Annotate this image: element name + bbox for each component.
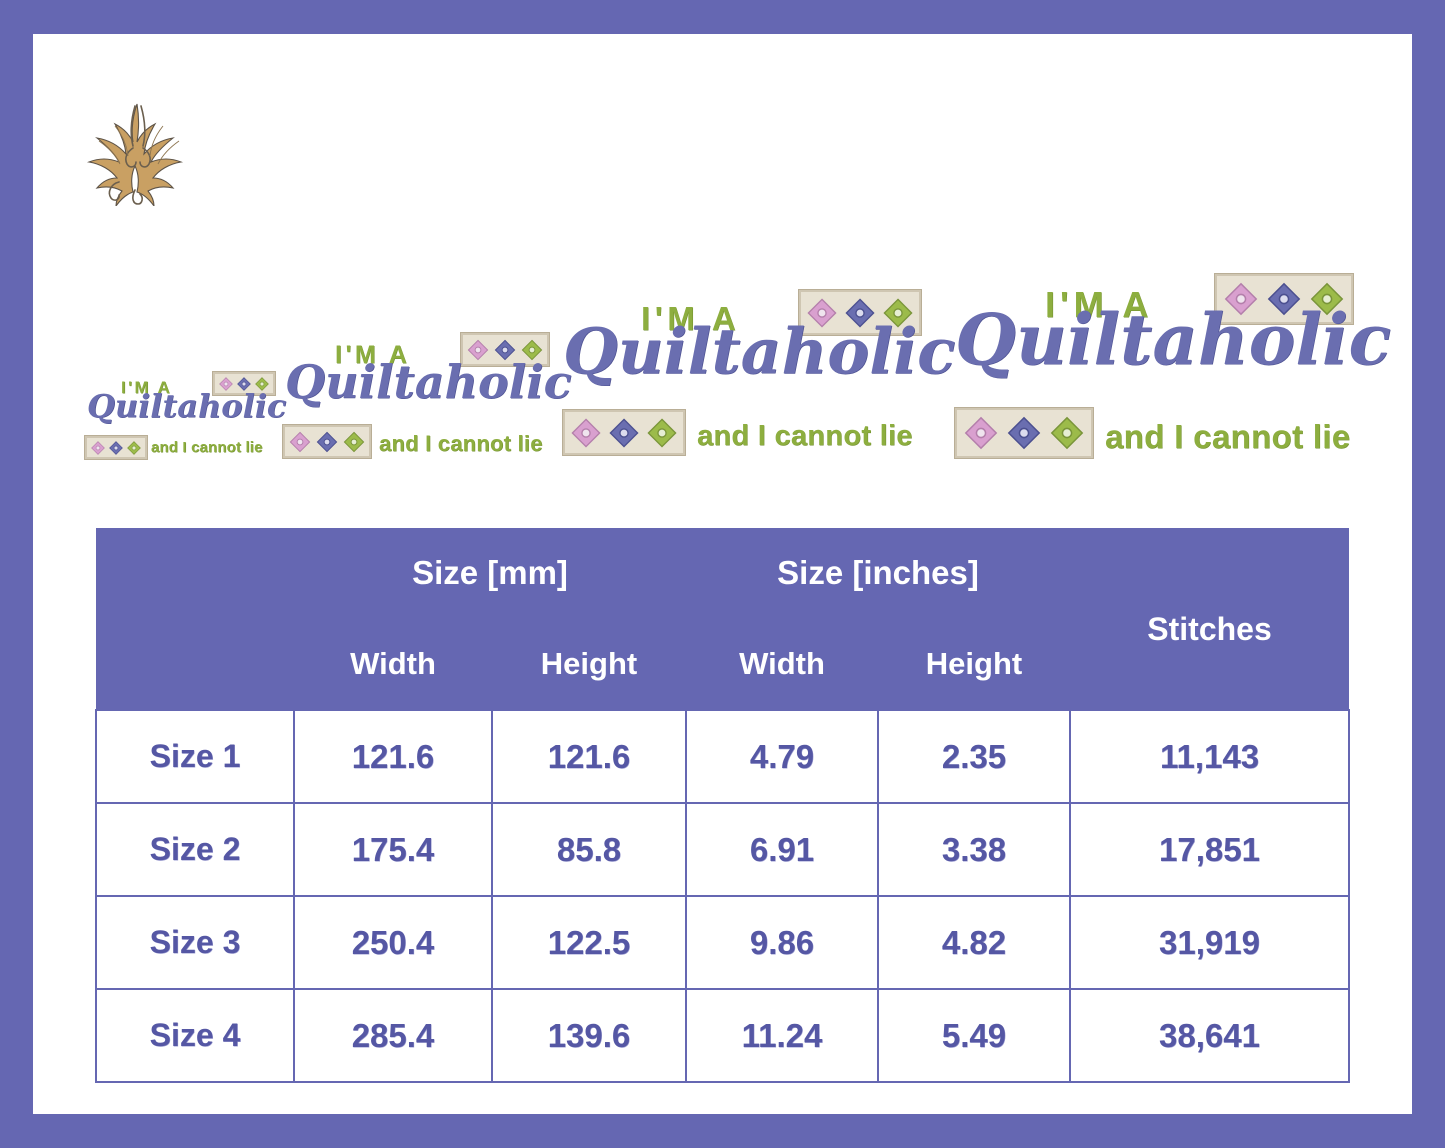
table-row: Size 2 175.4 85.8 6.91 3.38 17,851 [96,803,1349,896]
cell-mm-width: 121.6 [294,710,492,803]
cell-in-width: 4.79 [686,710,878,803]
cell-mm-height: 85.8 [492,803,686,896]
celtic-butterfly-logo [69,86,209,206]
cell-in-height: 5.49 [878,989,1070,1082]
cell-in-width: 6.91 [686,803,878,896]
design-text-quiltaholic: Quiltaholic [285,355,572,409]
table-header: Size [mm] Size [inches] Stitches Width H… [96,528,1349,710]
quilt-block-bottom [563,410,685,455]
cell-stitches: 11,143 [1070,710,1349,803]
cell-mm-width: 250.4 [294,896,492,989]
design-text-cannot-lie: and I cannot lie [151,439,263,456]
quilt-block-bottom [955,408,1093,458]
cell-mm-height: 122.5 [492,896,686,989]
cell-mm-width: 285.4 [294,989,492,1082]
design-text-quiltaholic: Quiltaholic [563,314,956,388]
header-row-groups: Size [mm] Size [inches] Stitches [96,528,1349,618]
cell-in-width: 11.24 [686,989,878,1082]
page-frame: I'M A Quiltaholic and I cannot lie [0,0,1445,1148]
cell-mm-width: 175.4 [294,803,492,896]
cell-in-height: 4.82 [878,896,1070,989]
design-text-cannot-lie: and I cannot lie [1105,418,1350,456]
header-group-inches: Size [inches] [686,528,1070,618]
header-corner-blank [96,528,294,618]
design-text-cannot-lie: and I cannot lie [697,420,913,453]
cell-stitches: 17,851 [1070,803,1349,896]
quilt-block-bottom [283,425,371,458]
header-mm-width: Width [294,618,492,710]
cell-in-height: 3.38 [878,803,1070,896]
table-row: Size 4 285.4 139.6 11.24 5.49 38,641 [96,989,1349,1082]
row-label: Size 2 [96,803,294,896]
header-stitches: Stitches [1070,528,1349,710]
design-text-quiltaholic: Quiltaholic [955,298,1391,381]
cell-mm-height: 139.6 [492,989,686,1082]
page-canvas: I'M A Quiltaholic and I cannot lie [33,34,1412,1114]
design-size-3: I'M A Quiltaholic and I cannot lie [561,288,921,484]
design-preview-strip: I'M A Quiltaholic and I cannot lie [33,234,1412,484]
table-row: Size 1 121.6 121.6 4.79 2.35 11,143 [96,710,1349,803]
size-table: Size [mm] Size [inches] Stitches Width H… [95,528,1350,1083]
cell-in-width: 9.86 [686,896,878,989]
header-in-width: Width [686,618,878,710]
row-label: Size 4 [96,989,294,1082]
table-row: Size 3 250.4 122.5 9.86 4.82 31,919 [96,896,1349,989]
design-text-quiltaholic: Quiltaholic [87,387,286,425]
header-in-height: Height [878,618,1070,710]
header-sub-blank [96,618,294,710]
cell-stitches: 31,919 [1070,896,1349,989]
cell-mm-height: 121.6 [492,710,686,803]
cell-stitches: 38,641 [1070,989,1349,1082]
design-text-cannot-lie: and I cannot lie [379,431,543,457]
size-table-container: Size [mm] Size [inches] Stitches Width H… [95,528,1348,1083]
table-body: Size 1 121.6 121.6 4.79 2.35 11,143 Size… [96,710,1349,1082]
design-size-2: I'M A Quiltaholic and I cannot lie [283,329,548,484]
cell-in-height: 2.35 [878,710,1070,803]
design-size-4: I'M A Quiltaholic and I cannot lie [953,272,1353,484]
row-label: Size 3 [96,896,294,989]
design-size-1: I'M A Quiltaholic and I cannot lie [83,364,273,484]
header-mm-height: Height [492,618,686,710]
row-label: Size 1 [96,710,294,803]
quilt-block-bottom [85,436,147,459]
header-group-mm: Size [mm] [294,528,686,618]
